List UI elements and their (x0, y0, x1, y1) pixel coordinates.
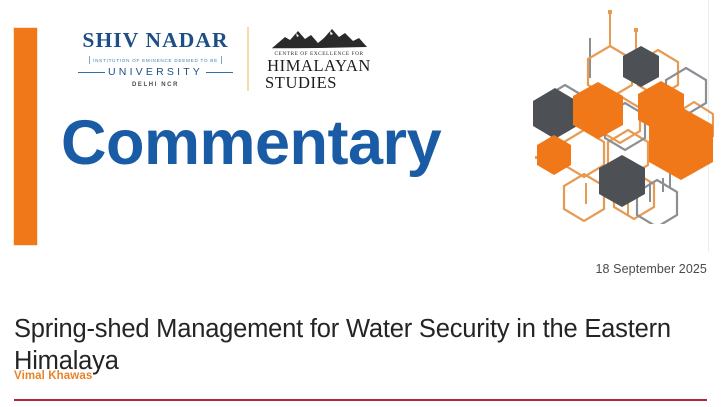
article-title: Spring-shed Management for Water Securit… (14, 313, 674, 377)
header-band: SHIV NADAR INSTITUTION OF EMINENCE DEEME… (0, 0, 721, 252)
logo-divider (247, 27, 249, 91)
university-name: SHIV NADAR (82, 30, 228, 52)
university-tagline: INSTITUTION OF EMINENCE DEEMED TO BE (90, 58, 221, 63)
university-campus: DELHI NCR (132, 82, 179, 88)
commentary-cover-page: SHIV NADAR INSTITUTION OF EMINENCE DEEME… (0, 0, 721, 407)
orange-accent-bar (14, 28, 37, 245)
university-word-row: UNIVERSITY (78, 66, 233, 78)
rule-left (78, 72, 105, 73)
tagline-bracket-right (221, 56, 222, 64)
mountain-range-icon (269, 26, 369, 50)
page-title: Commentary (61, 112, 441, 175)
article-author[interactable]: Vimal Khawas (14, 370, 92, 382)
shiv-nadar-university-logo[interactable]: SHIV NADAR INSTITUTION OF EMINENCE DEEME… (78, 30, 233, 89)
logo-lockup: SHIV NADAR INSTITUTION OF EMINENCE DEEME… (78, 26, 375, 92)
university-word: UNIVERSITY (108, 66, 203, 78)
university-tagline-row: INSTITUTION OF EMINENCE DEEMED TO BE (78, 56, 233, 64)
centre-line-2: STUDIES (263, 74, 337, 91)
centre-line-1: HIMALAYAN (267, 57, 371, 74)
hexagon-honeycomb-graphic (524, 2, 714, 224)
rule-right (206, 72, 233, 73)
bottom-red-rule (14, 399, 707, 401)
publication-date: 18 September 2025 (595, 262, 707, 276)
centre-of-excellence-logo[interactable]: CENTRE OF EXCELLENCE FOR HIMALAYAN STUDI… (263, 26, 375, 92)
